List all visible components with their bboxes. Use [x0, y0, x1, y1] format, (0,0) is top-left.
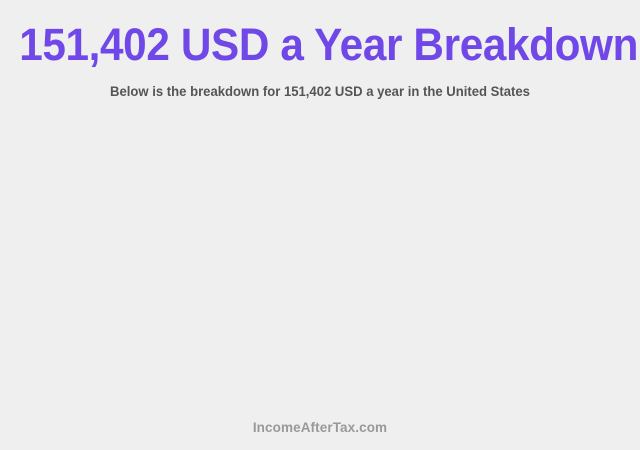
page-header: 151,402 USD a Year Breakdown Below is th… — [0, 0, 640, 100]
page-footer: IncomeAfterTax.com — [0, 408, 640, 450]
page-subtitle: Below is the breakdown for 151,402 USD a… — [10, 70, 631, 100]
breakdown-page: 151,402 USD a Year Breakdown Below is th… — [0, 0, 640, 450]
page-title: 151,402 USD a Year Breakdown — [19, 0, 621, 70]
breakdown-content-area — [0, 118, 640, 408]
site-credit: IncomeAfterTax.com — [253, 408, 387, 436]
